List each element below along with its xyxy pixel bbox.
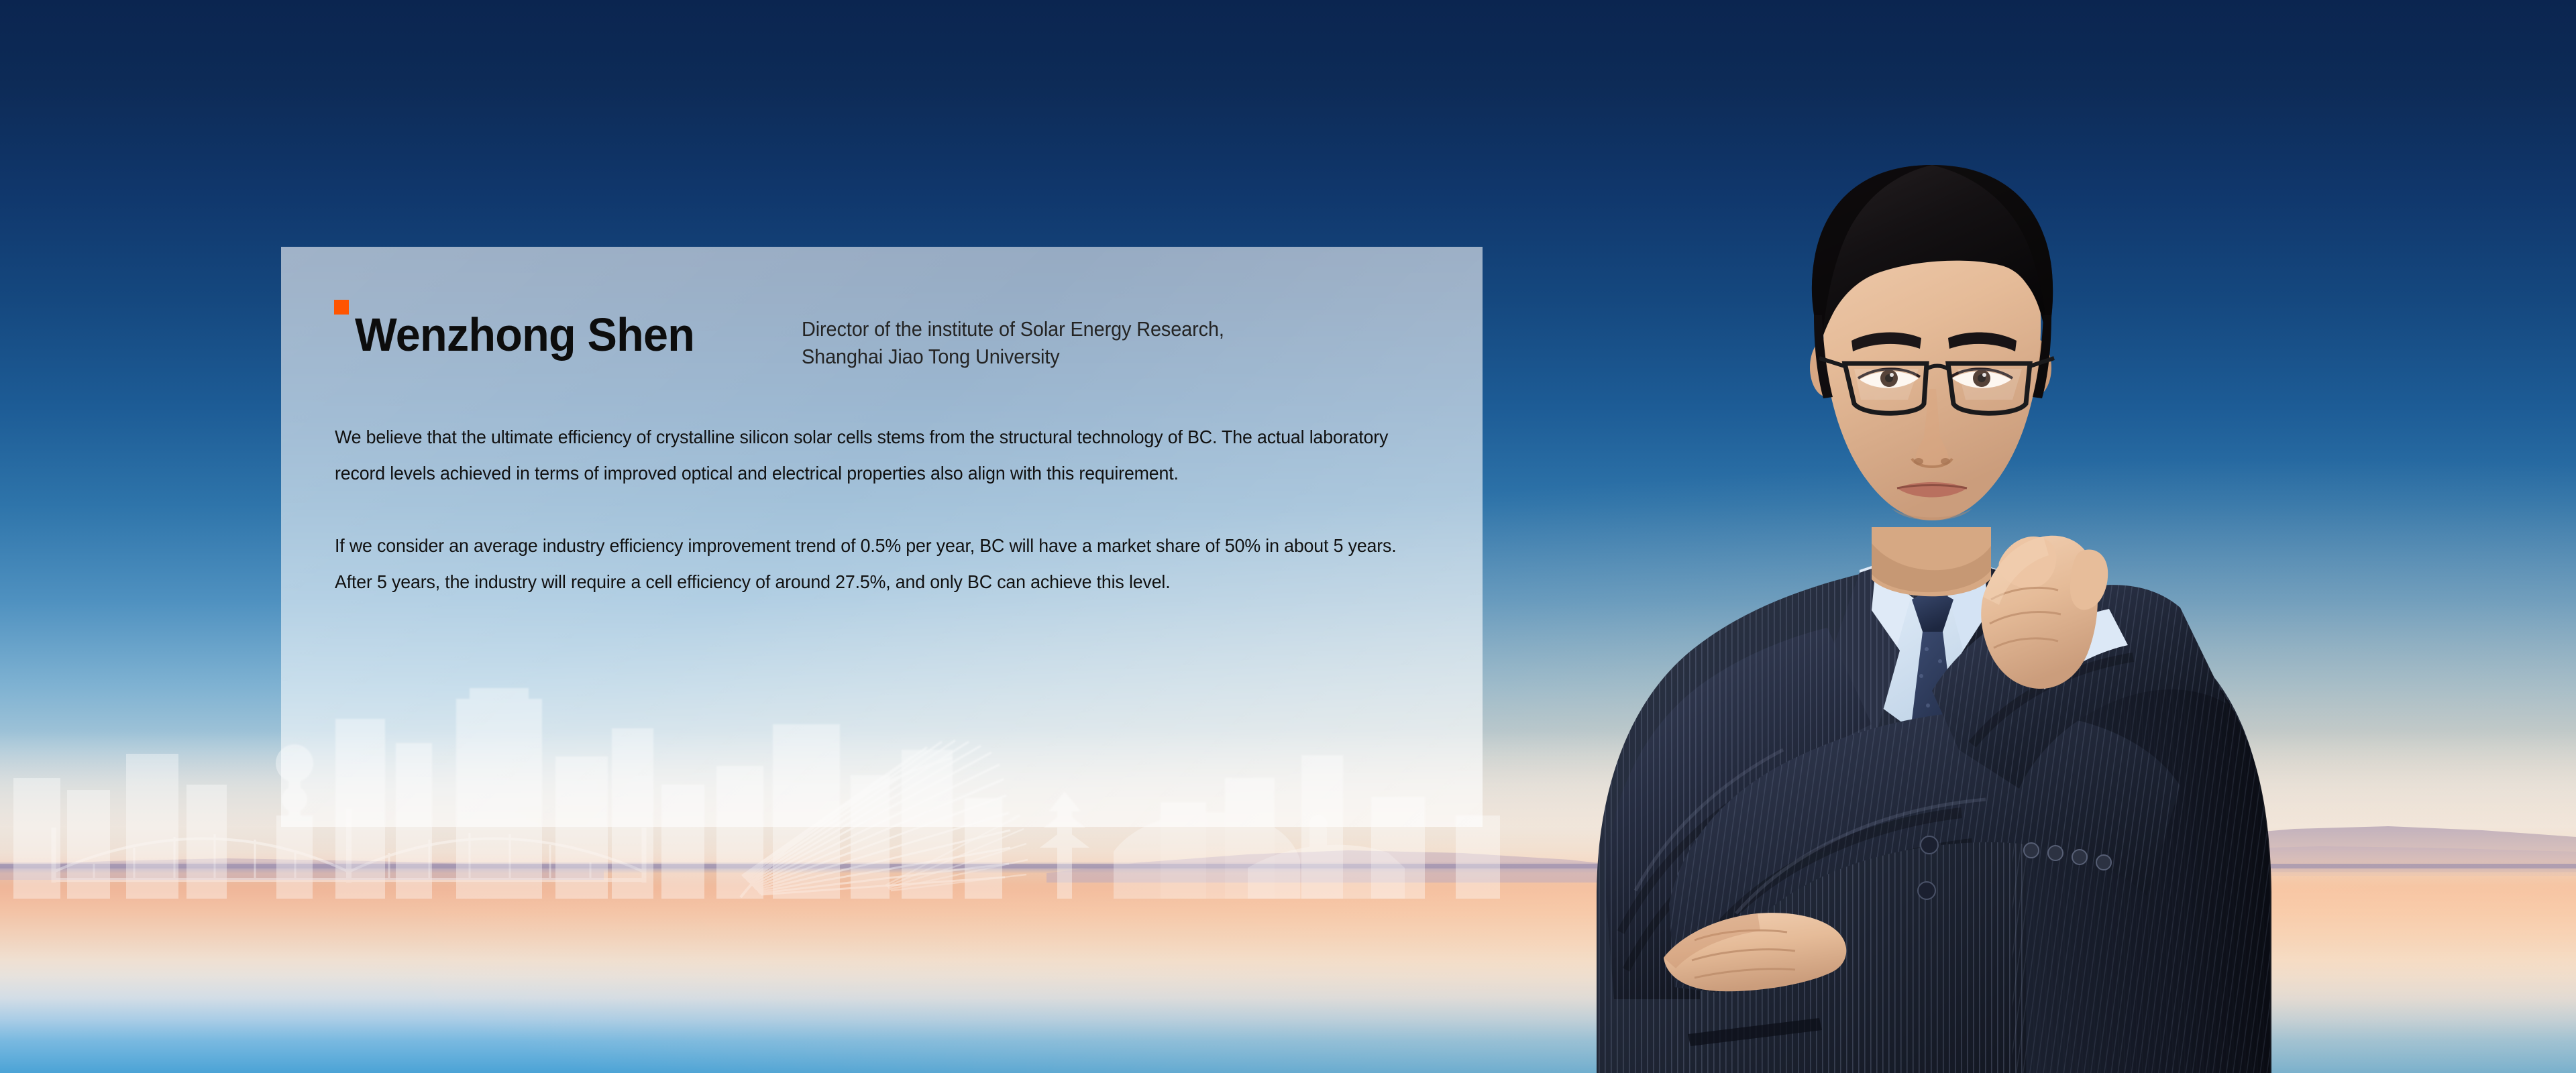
hero-banner: Wenzhong Shen Director of the institute … (0, 0, 2576, 1073)
speaker-quote-body: We believe that the ultimate efficiency … (335, 419, 1398, 600)
speaker-title: Director of the institute of Solar Energ… (802, 316, 1382, 371)
quote-paragraph-1: We believe that the ultimate efficiency … (335, 419, 1398, 492)
speaker-name: Wenzhong Shen (355, 311, 694, 358)
speaker-header: Wenzhong Shen Director of the institute … (281, 314, 1483, 388)
quote-paragraph-2: If we consider an average industry effic… (335, 528, 1398, 600)
speaker-title-line-1: Director of the institute of Solar Energ… (802, 316, 1382, 343)
speaker-title-line-2: Shanghai Jiao Tong University (802, 343, 1382, 371)
speaker-quote-card: Wenzhong Shen Director of the institute … (281, 247, 1483, 827)
orange-square-accent-icon (334, 300, 349, 315)
